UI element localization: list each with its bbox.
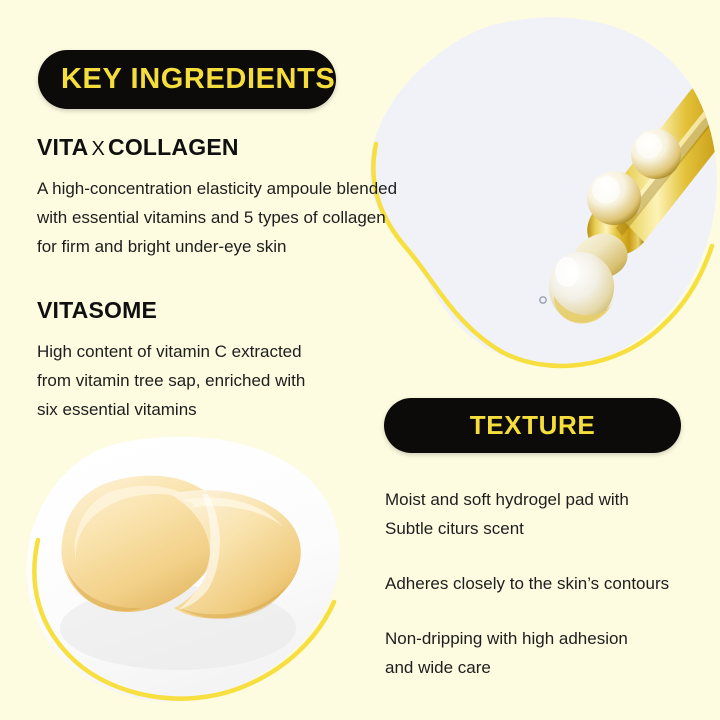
texture-item: Non-dripping with high adhesion and wide… [385,624,695,682]
ingredient-heading-vitasome: VITASOME [37,297,412,324]
key-ingredients-label: KEY INGREDIENTS [61,63,335,96]
heading-x-symbol: X [88,138,108,160]
product-detail-page: KEY INGREDIENTS VITAXCOLLAGEN A high-con… [0,0,720,720]
texture-text-column: Moist and soft hydrogel pad with Subtle … [385,485,695,682]
texture-item: Adheres closely to the skin’s contours [385,569,695,598]
eye-patch-image-blob [18,432,348,720]
texture-item: Moist and soft hydrogel pad with Subtle … [385,485,695,543]
ingredient-body-vita-collagen: A high-concentration elasticity ampoule … [37,174,412,261]
heading-part-vitasome: VITASOME [37,297,157,323]
ingredient-body-vitasome: High content of vitamin C extracted from… [37,337,412,424]
heading-part-vita: VITA [37,134,88,160]
ingredient-heading-vita-collagen: VITAXCOLLAGEN [37,134,412,161]
key-ingredients-pill: KEY INGREDIENTS [38,50,336,109]
dropper-image-blob [368,14,720,386]
texture-label: TEXTURE [470,410,596,441]
texture-pill: TEXTURE [384,398,681,453]
ingredients-text-column: VITAXCOLLAGEN A high-concentration elast… [37,134,412,424]
section-spacer [37,261,412,297]
heading-part-collagen: COLLAGEN [108,134,239,160]
